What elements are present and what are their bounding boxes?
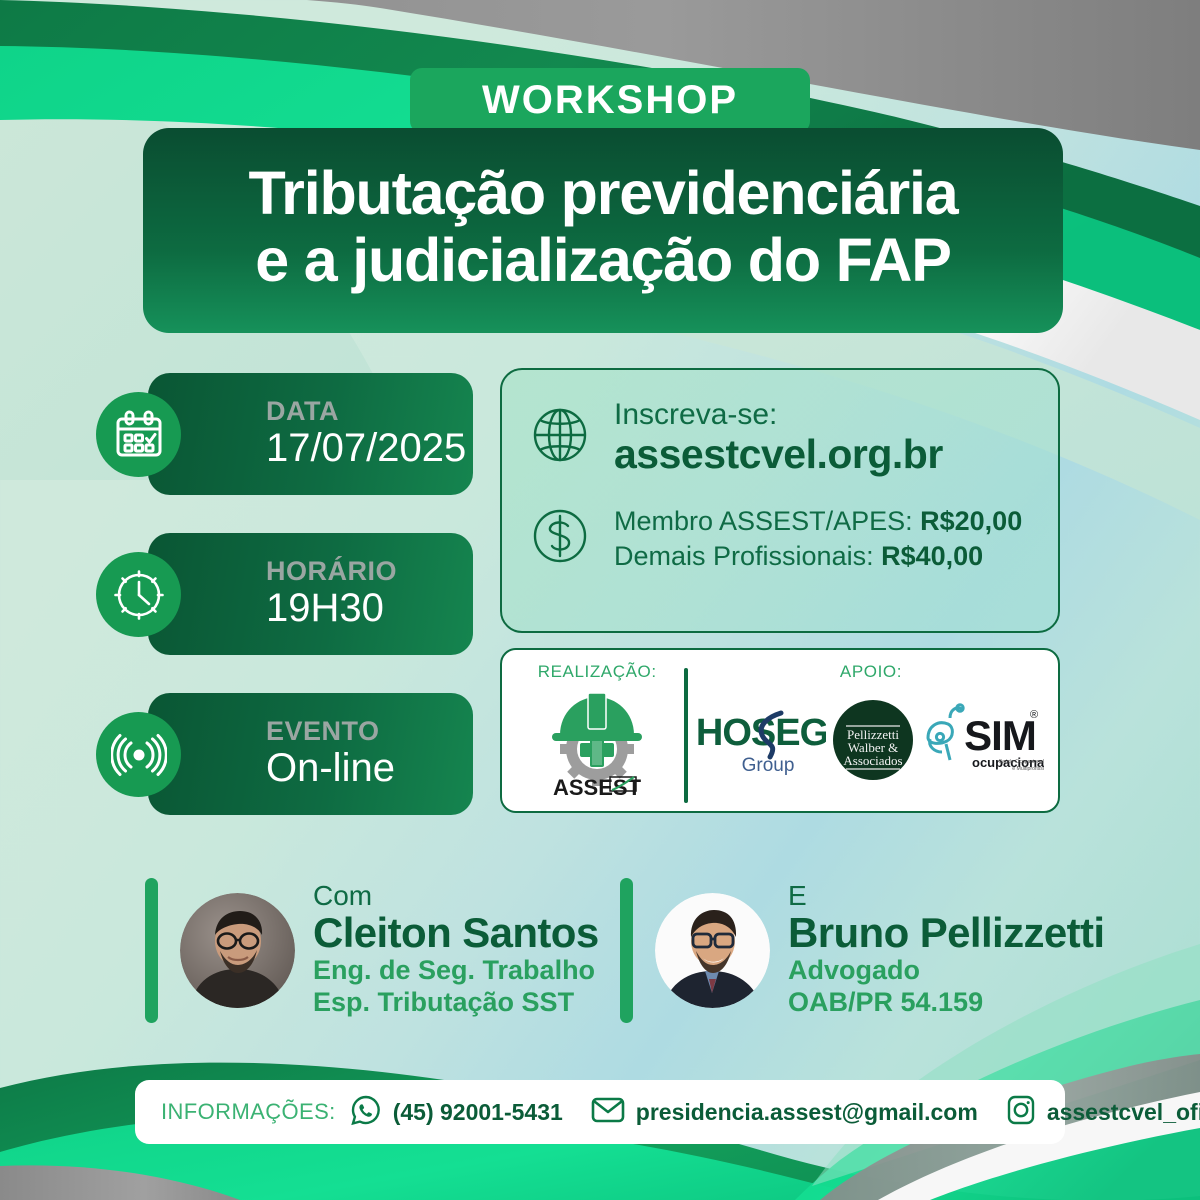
svg-text:SIM: SIM	[964, 712, 1036, 759]
info-box-time: HORÁRIO 19H30	[148, 533, 473, 655]
footer-email-address[interactable]: presidencia.assest@gmail.com	[636, 1099, 978, 1126]
footer-instagram-handle[interactable]: assestcvel_oficial	[1047, 1099, 1200, 1126]
price-member-value: R$20,00	[920, 506, 1022, 536]
speaker-card-1: Com Cleiton Santos Eng. de Seg. Trabalho…	[145, 875, 599, 1025]
event-title-card: Tributação previdenciária e a judicializ…	[143, 128, 1063, 333]
realization-caption: REALIZAÇÃO:	[538, 662, 657, 682]
info-box-date: DATA 17/07/2025	[148, 373, 473, 495]
assest-logo: ASSEST	[538, 682, 656, 803]
support-section: APOIO: HOSEG Group Pellizzetti	[698, 658, 1044, 803]
calendar-icon	[96, 392, 181, 477]
speaker-card-2: E Bruno Pellizzetti Advogado OAB/PR 54.1…	[620, 875, 1105, 1025]
svg-text:Associados: Associados	[843, 753, 902, 768]
footer-whatsapp-number[interactable]: (45) 92001-5431	[393, 1099, 563, 1126]
speaker-accent-bar	[145, 878, 158, 1023]
clock-icon	[96, 552, 181, 637]
sim-ocupacional-logo: SIM ® ocupacional Saúde Ocupacional Inte…	[920, 698, 1044, 787]
speaker-2-role-line-2: OAB/PR 54.159	[788, 987, 1105, 1019]
speaker-2-avatar	[655, 893, 770, 1008]
sponsors-divider	[684, 668, 688, 803]
contact-footer-bar: INFORMAÇÕES: (45) 92001-5431 presidencia…	[135, 1080, 1065, 1144]
speaker-1-name: Cleiton Santos	[313, 911, 599, 956]
whatsapp-icon	[350, 1094, 382, 1131]
speaker-1-role-line-2: Esp. Tributação SST	[313, 987, 599, 1019]
speaker-accent-bar	[620, 878, 633, 1023]
realization-section: REALIZAÇÃO:	[512, 658, 682, 803]
subscribe-label: Inscreva-se:	[614, 398, 943, 432]
globe-icon	[528, 403, 592, 472]
svg-text:Group: Group	[742, 755, 795, 776]
flyer-content: WORKSHOP Tributação previdenciária e a j…	[0, 0, 1200, 1200]
info-box-time-value: 19H30	[266, 586, 455, 631]
info-box-date-value: 17/07/2025	[266, 426, 455, 471]
speaker-1-prefix: Com	[313, 881, 599, 910]
sponsors-panel: REALIZAÇÃO:	[500, 648, 1060, 813]
hoseg-logo: HOSEG Group	[698, 695, 826, 790]
speaker-1-role-line-1: Eng. de Seg. Trabalho	[313, 955, 599, 987]
price-other-label: Demais Profissionais:	[614, 541, 874, 571]
event-title-line-2: e a judicialização do FAP	[255, 229, 950, 291]
registration-url[interactable]: assestcvel.org.br	[614, 432, 943, 478]
footer-whatsapp-item[interactable]: (45) 92001-5431	[350, 1094, 563, 1131]
speaker-2-name: Bruno Pellizzetti	[788, 911, 1105, 956]
price-member-label: Membro ASSEST/APES:	[614, 506, 913, 536]
footer-info-label: INFORMAÇÕES:	[161, 1099, 336, 1125]
footer-email-item[interactable]: presidencia.assest@gmail.com	[591, 1095, 978, 1130]
svg-text:e Multiprofissional: e Multiprofissional	[1012, 766, 1044, 772]
workshop-badge: WORKSHOP	[410, 68, 810, 133]
svg-text:®: ®	[1030, 709, 1038, 721]
registration-price-row: Membro ASSEST/APES: R$20,00 Demais Profi…	[528, 504, 1032, 574]
info-box-time-label: HORÁRIO	[266, 557, 455, 587]
price-member: Membro ASSEST/APES: R$20,00	[614, 504, 1022, 539]
price-other: Demais Profissionais: R$40,00	[614, 539, 1022, 574]
info-box-date-label: DATA	[266, 397, 455, 427]
support-caption: APOIO:	[840, 662, 902, 682]
speaker-2-prefix: E	[788, 881, 1105, 910]
pellizzetti-logo: Pellizzetti Walber & Associados	[832, 699, 914, 786]
info-box-event: EVENTO On-line	[148, 693, 473, 815]
registration-panel: Inscreva-se: assestcvel.org.br Membro AS…	[500, 368, 1060, 633]
registration-url-row[interactable]: Inscreva-se: assestcvel.org.br	[528, 398, 1032, 478]
price-other-value: R$40,00	[881, 541, 983, 571]
svg-text:Saúde Ocupacional Integrada: Saúde Ocupacional Integrada	[999, 759, 1044, 765]
dollar-icon	[528, 504, 592, 573]
envelope-icon	[591, 1095, 625, 1130]
broadcast-icon	[96, 712, 181, 797]
footer-instagram-item[interactable]: assestcvel_oficial	[1006, 1094, 1200, 1131]
event-title-line-1: Tributação previdenciária	[248, 162, 957, 224]
workshop-badge-label: WORKSHOP	[482, 78, 738, 123]
speaker-1-avatar	[180, 893, 295, 1008]
speaker-2-role-line-1: Advogado	[788, 955, 1105, 987]
instagram-icon	[1006, 1094, 1036, 1131]
info-box-event-value: On-line	[266, 746, 455, 791]
svg-text:ASSEST: ASSEST	[553, 775, 642, 799]
info-box-event-label: EVENTO	[266, 717, 455, 747]
